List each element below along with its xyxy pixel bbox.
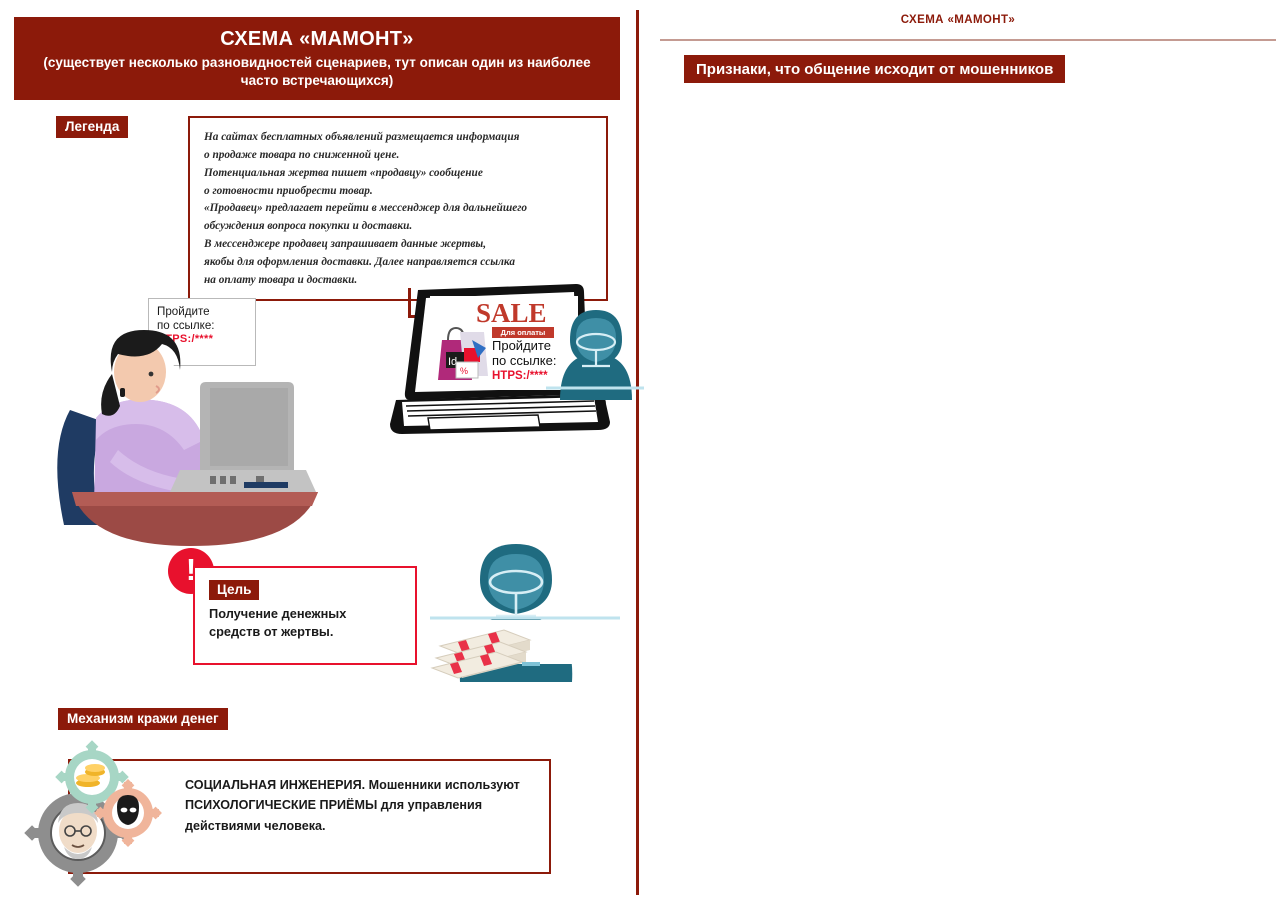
goal-tag: Цель (209, 580, 259, 600)
right-panel: СХЕМА «МАМОНТ» Признаки, что общение исх… (636, 0, 1280, 905)
page-subtitle: (существует несколько разновидностей сце… (24, 54, 610, 90)
legend-box: На сайтах бесплатных объявлений размещае… (188, 116, 608, 301)
page-title: СХЕМА «МАМОНТ» (220, 28, 413, 51)
right-header-title: СХЕМА «МАМОНТ» (636, 14, 1280, 26)
legend-text: На сайтах бесплатных объявлений размещае… (204, 129, 592, 290)
hacker-silhouette-left (540, 300, 650, 410)
mechanism-text: СОЦИАЛЬНАЯ ИНЖЕНЕРИЯ. Мошенники использу… (185, 775, 545, 836)
victim-illustration (60, 330, 360, 555)
gears-illustration (30, 745, 195, 875)
left-panel: СХЕМА «МАМОНТ» (существует несколько раз… (0, 0, 636, 905)
hacker-with-money-illustration (430, 532, 620, 707)
bubble-line-1: Пройдите (157, 305, 247, 319)
title-bar: СХЕМА «МАМОНТ» (существует несколько раз… (14, 17, 620, 100)
goal-box: Цель Получение денежных средств от жертв… (193, 566, 417, 665)
svg-text:%: % (460, 366, 468, 376)
shopping-bags-icon: Id % (434, 318, 490, 382)
infographic-page: СХЕМА «МАМОНТ» (существует несколько раз… (0, 0, 1280, 905)
signs-banner: Признаки, что общение исходит от мошенни… (684, 55, 1065, 83)
header-rule (660, 39, 1276, 41)
legend-tag: Легенда (56, 116, 128, 138)
mechanism-tag: Механизм кражи денег (58, 708, 228, 730)
goal-text: Получение денежных средств от жертвы. (209, 605, 401, 640)
